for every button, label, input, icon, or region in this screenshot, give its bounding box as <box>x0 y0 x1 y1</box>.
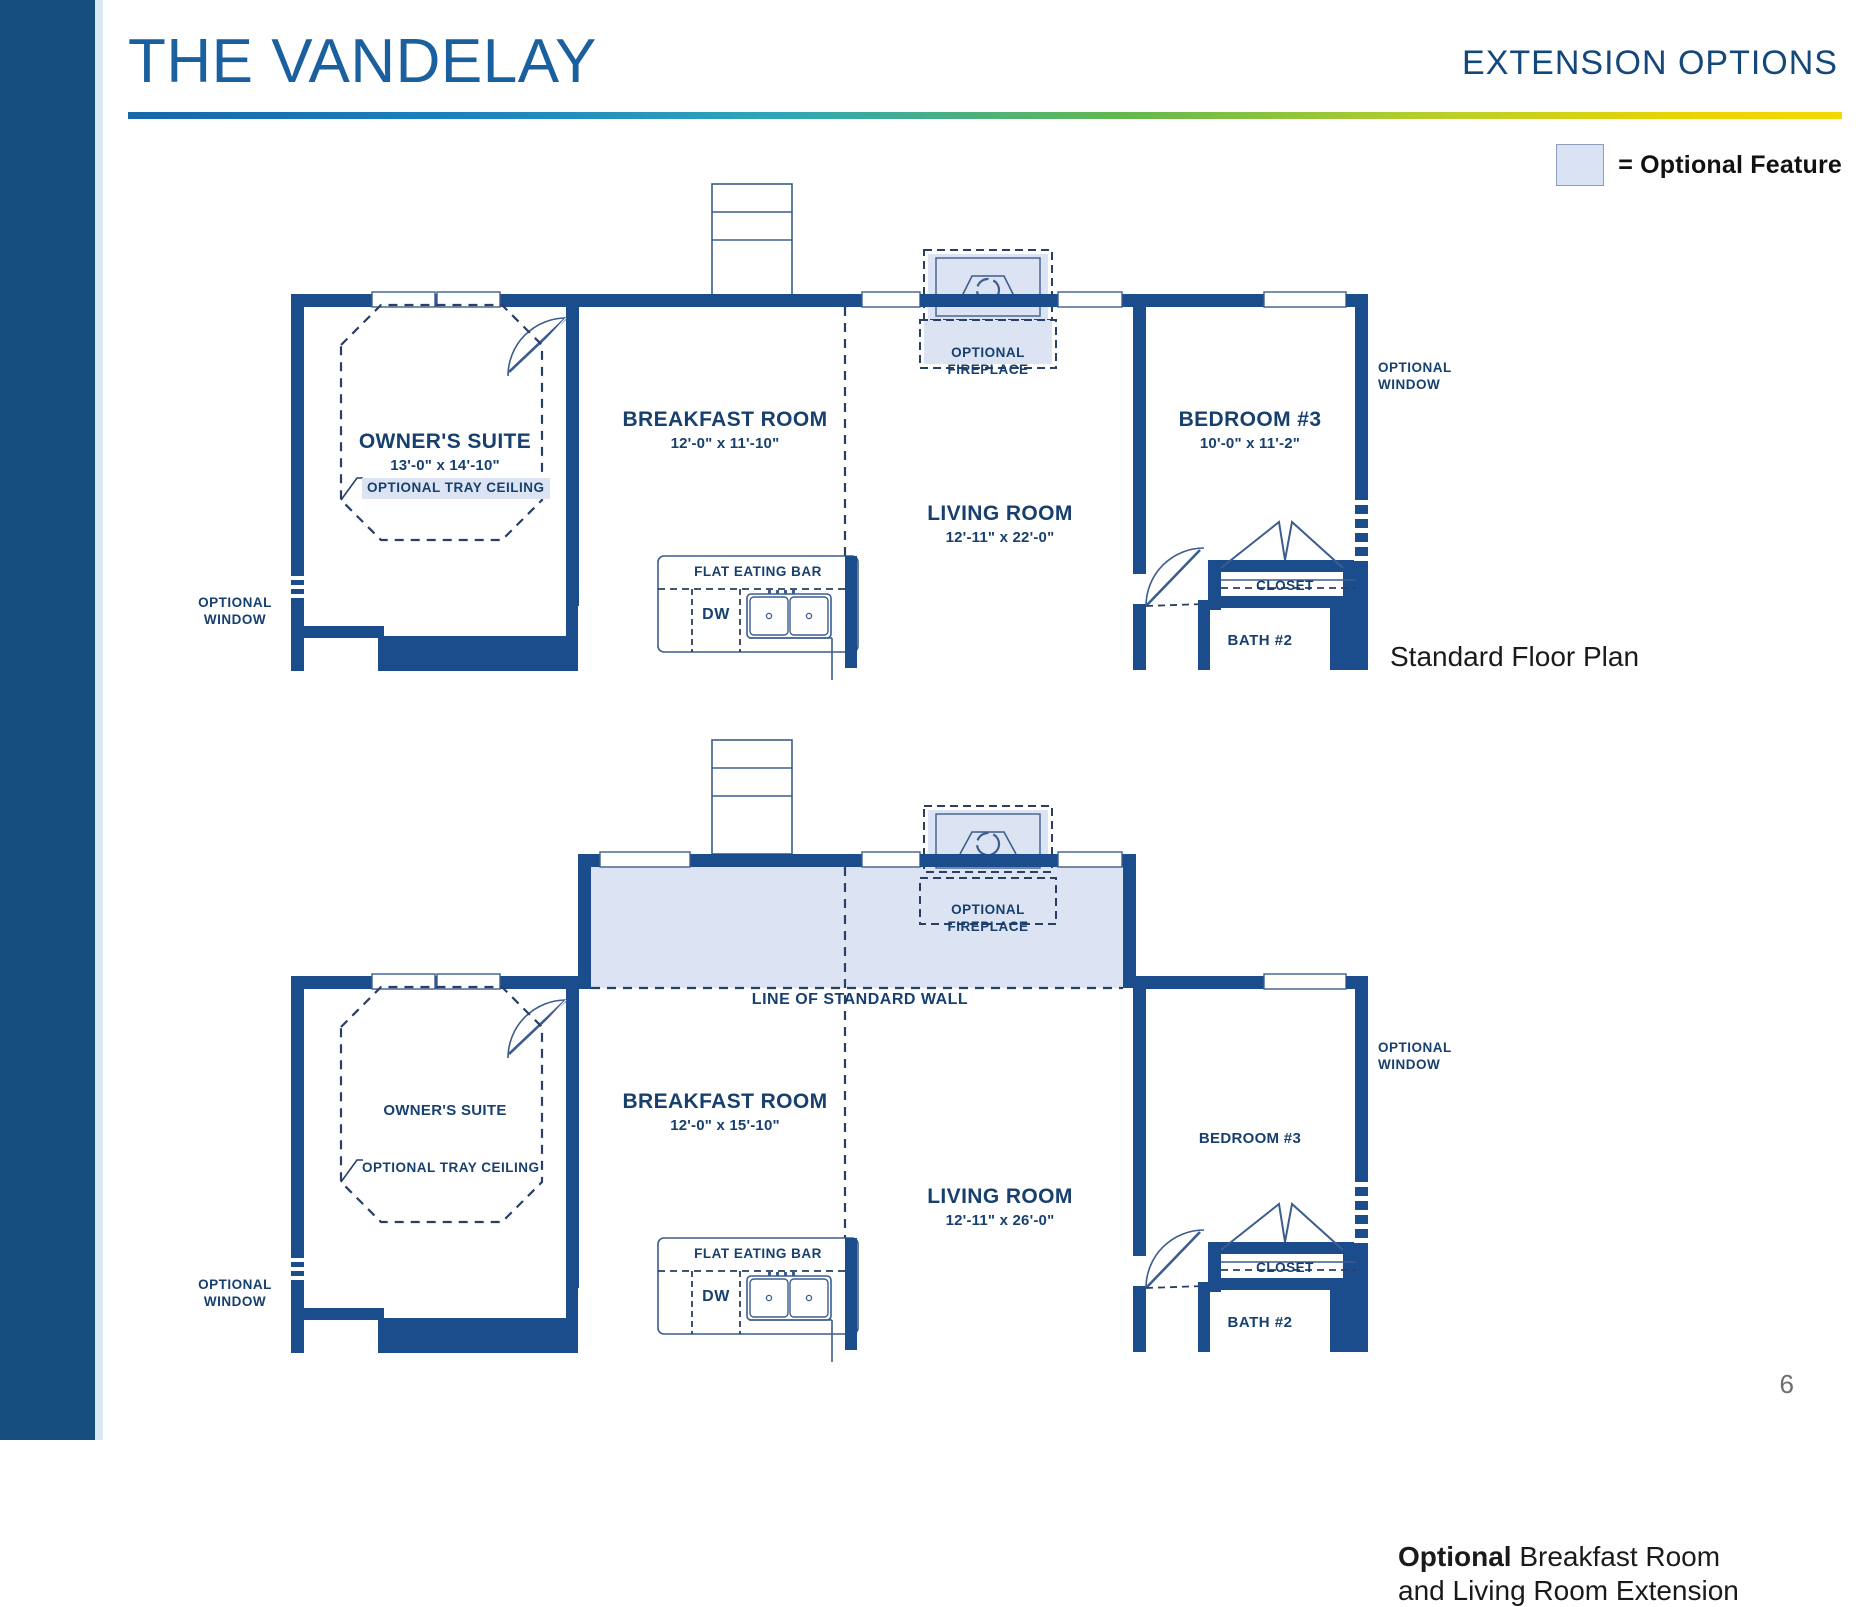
tray-ceiling-outline <box>341 305 542 540</box>
fireplace-line-2: FIREPLACE <box>947 919 1028 934</box>
room-label-breakfast: BREAKFAST ROOM 12'-0" x 11'-10" <box>560 408 890 452</box>
room-label-bedroom3: BEDROOM #3 10'-0" x 11'-2" <box>1100 408 1400 452</box>
room-dimensions: 12'-0" x 15'-10" <box>560 1117 890 1134</box>
chimney-projection <box>712 740 792 854</box>
room-name: BREAKFAST ROOM <box>560 1090 890 1114</box>
wall-suite-right-upper <box>566 294 579 318</box>
tag-dishwasher: DW <box>692 1287 740 1307</box>
optional-window-marker-right <box>1355 1176 1368 1250</box>
door-bath2 <box>1146 1230 1204 1288</box>
optional-window-marker-left <box>291 1253 304 1291</box>
caption-bold: Optional <box>1398 1541 1512 1572</box>
room-label-bedroom3: BEDROOM #3 <box>1100 1130 1400 1147</box>
wall-extension-right <box>1123 854 1136 988</box>
room-label-breakfast: BREAKFAST ROOM 12'-0" x 15'-10" <box>560 1090 890 1134</box>
fireplace-line-2: FIREPLACE <box>947 362 1028 377</box>
fireplace-line-1: OPTIONAL <box>951 345 1025 360</box>
room-dimensions: 12'-11" x 26'-0" <box>840 1212 1160 1229</box>
room-dimensions: 10'-0" x 11'-2" <box>1100 435 1400 452</box>
window-line-2: WINDOW <box>1378 377 1440 392</box>
tag-flat-eating-bar: FLAT EATING BAR <box>658 1246 858 1263</box>
window-line-1: OPTIONAL <box>1378 1040 1452 1055</box>
floor-plan-optional-extension: OWNER'S SUITE OPTIONAL TRAY CEILING BREA… <box>0 540 1864 1440</box>
tag-optional-window-right: OPTIONAL WINDOW <box>1378 1040 1518 1074</box>
window-line-1: OPTIONAL <box>198 1277 272 1292</box>
room-label-owners-suite: OWNER'S SUITE 13'-0" x 14'-10" <box>285 430 605 474</box>
tag-optional-window-left: OPTIONAL WINDOW <box>180 1277 290 1311</box>
page-number: 6 <box>1780 1369 1794 1400</box>
tag-optional-fireplace: OPTIONAL FIREPLACE <box>888 345 1088 379</box>
room-name: BEDROOM #3 <box>1100 408 1400 432</box>
wall-right-exterior <box>1355 294 1368 494</box>
room-name: OWNER'S SUITE <box>285 430 605 454</box>
room-name: LIVING ROOM <box>840 1185 1160 1209</box>
tag-optional-fireplace: OPTIONAL FIREPLACE <box>888 902 1088 936</box>
fireplace-line-1: OPTIONAL <box>951 902 1025 917</box>
room-name: BREAKFAST ROOM <box>560 408 890 432</box>
caption-line-2: and Living Room Extension <box>1398 1574 1739 1607</box>
window-line-2: WINDOW <box>1378 1057 1440 1072</box>
room-name: BEDROOM #3 <box>1100 1130 1400 1147</box>
caption-rest: Breakfast Room <box>1512 1541 1721 1572</box>
plan-caption-optional: Optional Breakfast Room and Living Room … <box>1398 1540 1739 1607</box>
tag-optional-window-right: OPTIONAL WINDOW <box>1378 360 1518 394</box>
room-dimensions: 12'-0" x 11'-10" <box>560 435 890 452</box>
window-line-1: OPTIONAL <box>1378 360 1452 375</box>
window-line-2: WINDOW <box>204 1294 266 1309</box>
door-owners-suite <box>508 318 566 377</box>
room-dimensions: 13'-0" x 14'-10" <box>285 457 605 474</box>
wall-extension-left <box>578 854 591 988</box>
tag-line-of-standard-wall: LINE OF STANDARD WALL <box>640 990 1080 1010</box>
room-label-owners-suite: OWNER'S SUITE <box>285 1102 605 1119</box>
tag-bath2: BATH #2 <box>1190 1314 1330 1333</box>
tag-optional-tray-ceiling: OPTIONAL TRAY CEILING <box>362 1160 540 1177</box>
tag-optional-tray-ceiling: OPTIONAL TRAY CEILING <box>362 478 550 499</box>
door-owners-suite <box>508 1000 566 1059</box>
room-name: OWNER'S SUITE <box>285 1102 605 1119</box>
chimney-projection <box>712 184 792 298</box>
room-label-living: LIVING ROOM 12'-11" x 26'-0" <box>840 1185 1160 1229</box>
tag-closet: CLOSET <box>1215 1260 1355 1277</box>
room-name: LIVING ROOM <box>840 502 1160 526</box>
